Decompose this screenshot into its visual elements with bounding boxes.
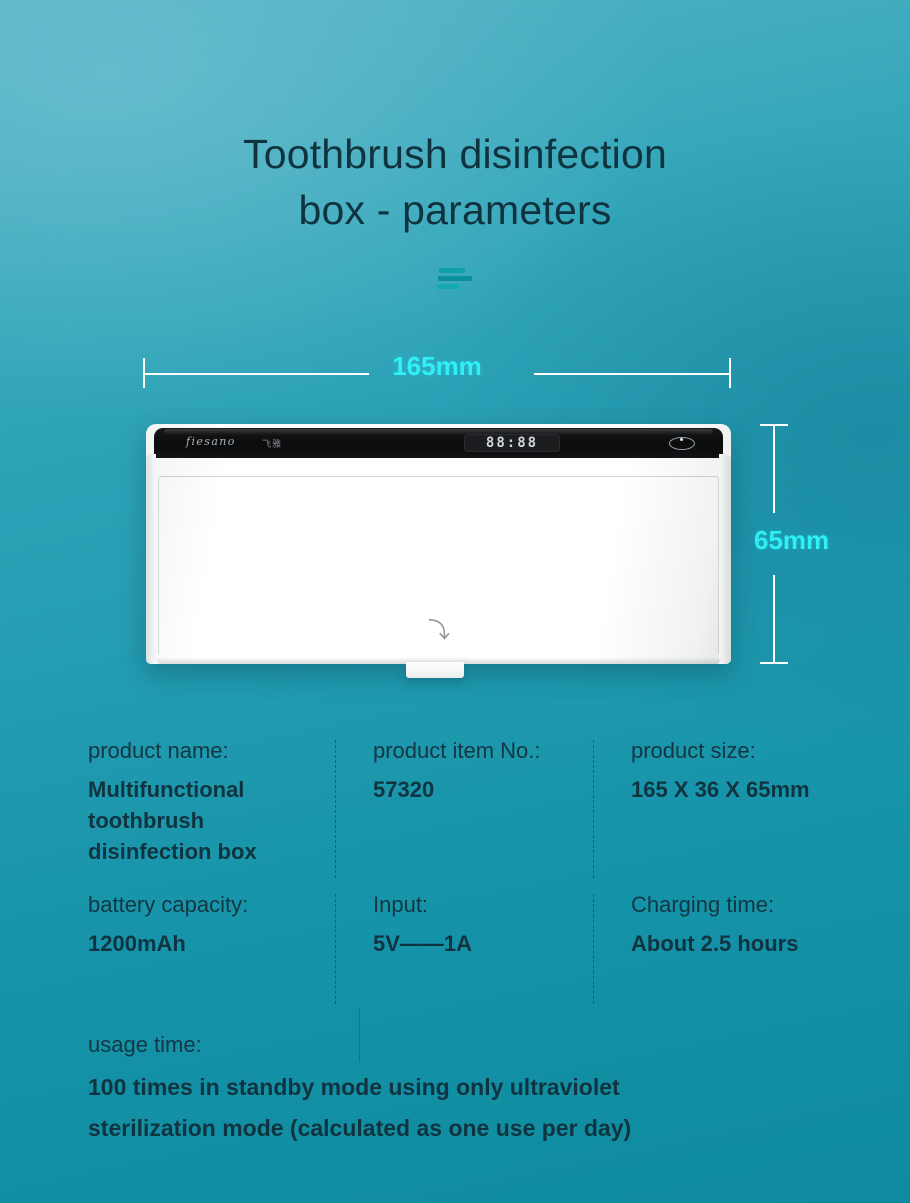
page-title-line-2: box - parameters [0, 182, 910, 238]
spec-divider [335, 894, 336, 1004]
usage-divider [359, 1008, 360, 1062]
spec-cell-charging-time: Charging time: About 2.5 hours [594, 890, 848, 1016]
divider-bar-bottom [437, 284, 459, 289]
spec-cell-product-name: product name: Multifunctional toothbrush… [88, 736, 336, 890]
spec-value: 5V——1A [373, 928, 594, 959]
led-display: 88:88 [464, 434, 560, 452]
height-dimension-line-bottom [773, 575, 775, 663]
spec-value: About 2.5 hours [631, 928, 848, 959]
height-dimension-line-top [773, 425, 775, 513]
title-divider [0, 268, 910, 289]
spec-label: Charging time: [631, 890, 848, 920]
product-image: fiesano 飞雅 88:88 ⤵ [146, 424, 731, 664]
hook-arrow-icon: ⤵ [428, 620, 450, 642]
height-dimension-cap-bottom [760, 662, 788, 664]
spec-label: product name: [88, 736, 336, 766]
spec-cell-input: Input: 5V——1A [336, 890, 594, 1016]
divider-bar-middle [438, 276, 472, 281]
brand-mark: 飞雅 [262, 437, 282, 450]
spec-value: 165 X 36 X 65mm [631, 774, 848, 805]
height-dimension: 65mm [760, 424, 806, 664]
spec-label: product item No.: [373, 736, 594, 766]
power-ring-dot [680, 438, 683, 441]
height-dimension-label: 65mm [754, 525, 829, 556]
spec-value: Multifunctional toothbrush disinfection … [88, 774, 298, 867]
spec-divider [593, 894, 594, 1004]
usage-time-label: usage time: [88, 1030, 828, 1060]
power-ring-icon[interactable] [669, 437, 695, 450]
width-dimension: 165mm [143, 358, 731, 390]
width-dimension-label: 165mm [143, 351, 731, 382]
device-side-left [146, 454, 156, 664]
usage-time-value-line-1: 100 times in standby mode using only ult… [88, 1067, 828, 1108]
device-body: fiesano 飞雅 88:88 ⤵ [146, 424, 731, 664]
spec-cell-item-no: product item No.: 57320 [336, 736, 594, 890]
spec-value: 1200mAh [88, 928, 336, 959]
usage-time-block: usage time: 100 times in standby mode us… [88, 1030, 828, 1149]
page-title-line-1: Toothbrush disinfection [0, 126, 910, 182]
spec-cell-battery-capacity: battery capacity: 1200mAh [88, 890, 336, 1016]
spec-label: battery capacity: [88, 890, 336, 920]
spec-table: product name: Multifunctional toothbrush… [88, 736, 848, 1016]
usage-time-value-line-2: sterilization mode (calculated as one us… [88, 1108, 828, 1149]
spec-label: product size: [631, 736, 848, 766]
spec-row: battery capacity: 1200mAh Input: 5V——1A … [88, 890, 848, 1016]
spec-divider [593, 740, 594, 878]
brand-logo: fiesano [186, 435, 236, 448]
spec-divider [335, 740, 336, 878]
device-bottom-tab [406, 662, 464, 678]
device-control-panel: fiesano 飞雅 88:88 [154, 428, 723, 458]
spec-label: Input: [373, 890, 594, 920]
page-title: Toothbrush disinfection box - parameters [0, 126, 910, 238]
spec-row: product name: Multifunctional toothbrush… [88, 736, 848, 890]
product-spec-page: Toothbrush disinfection box - parameters… [0, 0, 910, 1203]
led-display-value: 88:88 [486, 436, 538, 450]
width-dimension-line-right [534, 373, 730, 375]
device-side-right [719, 454, 731, 664]
width-dimension-cap-right [729, 358, 731, 388]
divider-bar-top [439, 268, 465, 273]
spec-cell-product-size: product size: 165 X 36 X 65mm [594, 736, 848, 890]
spec-value: 57320 [373, 774, 594, 805]
panel-gloss [164, 429, 713, 435]
